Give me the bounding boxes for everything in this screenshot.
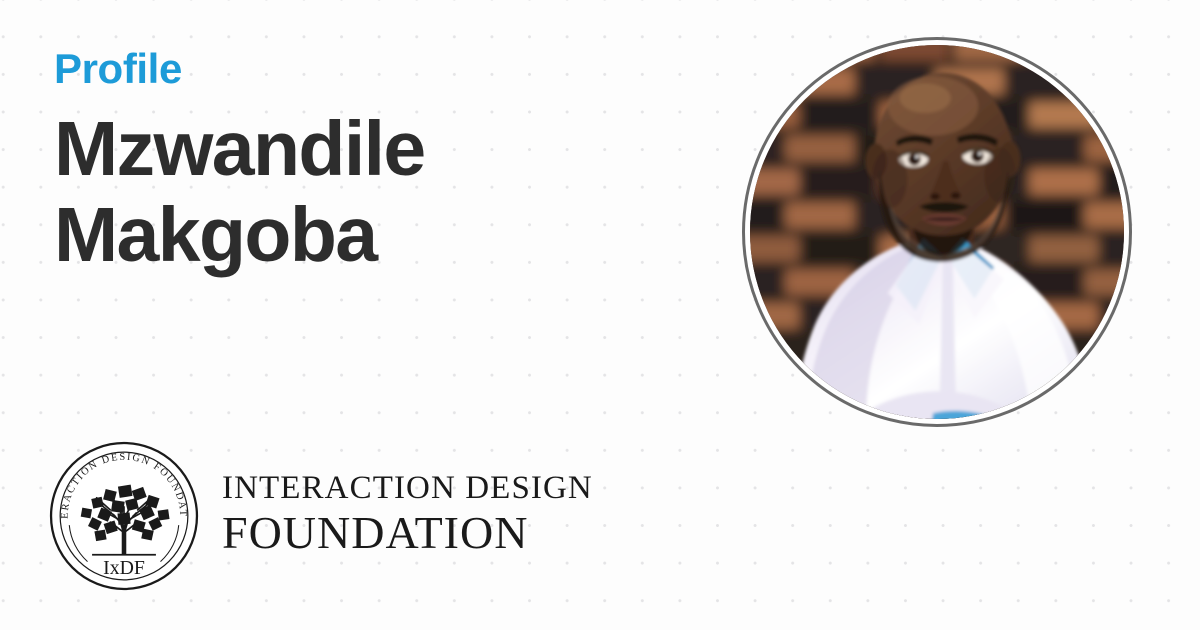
ixdf-abbreviation-text: IxDF	[103, 557, 145, 579]
ixdf-wordmark: INTERACTION DESIGN FOUNDATION	[222, 472, 593, 560]
ixdf-emblem-icon: INTERACTION DESIGN FOUNDATION	[48, 440, 200, 592]
ixdf-logo-lockup[interactable]: INTERACTION DESIGN FOUNDATION	[48, 440, 593, 592]
avatar	[742, 37, 1132, 427]
profile-card: Profile Mzwandile Makgoba INTERACTION DE…	[0, 0, 1200, 630]
profile-text-block: Profile Mzwandile Makgoba	[54, 48, 694, 278]
page-eyebrow-label: Profile	[54, 48, 694, 90]
avatar-photo	[750, 45, 1124, 419]
wordmark-line-2: FOUNDATION	[222, 510, 593, 556]
avatar-clip	[750, 45, 1124, 419]
wordmark-line-1: INTERACTION DESIGN	[222, 472, 593, 505]
page-title: Mzwandile Makgoba	[54, 106, 674, 278]
